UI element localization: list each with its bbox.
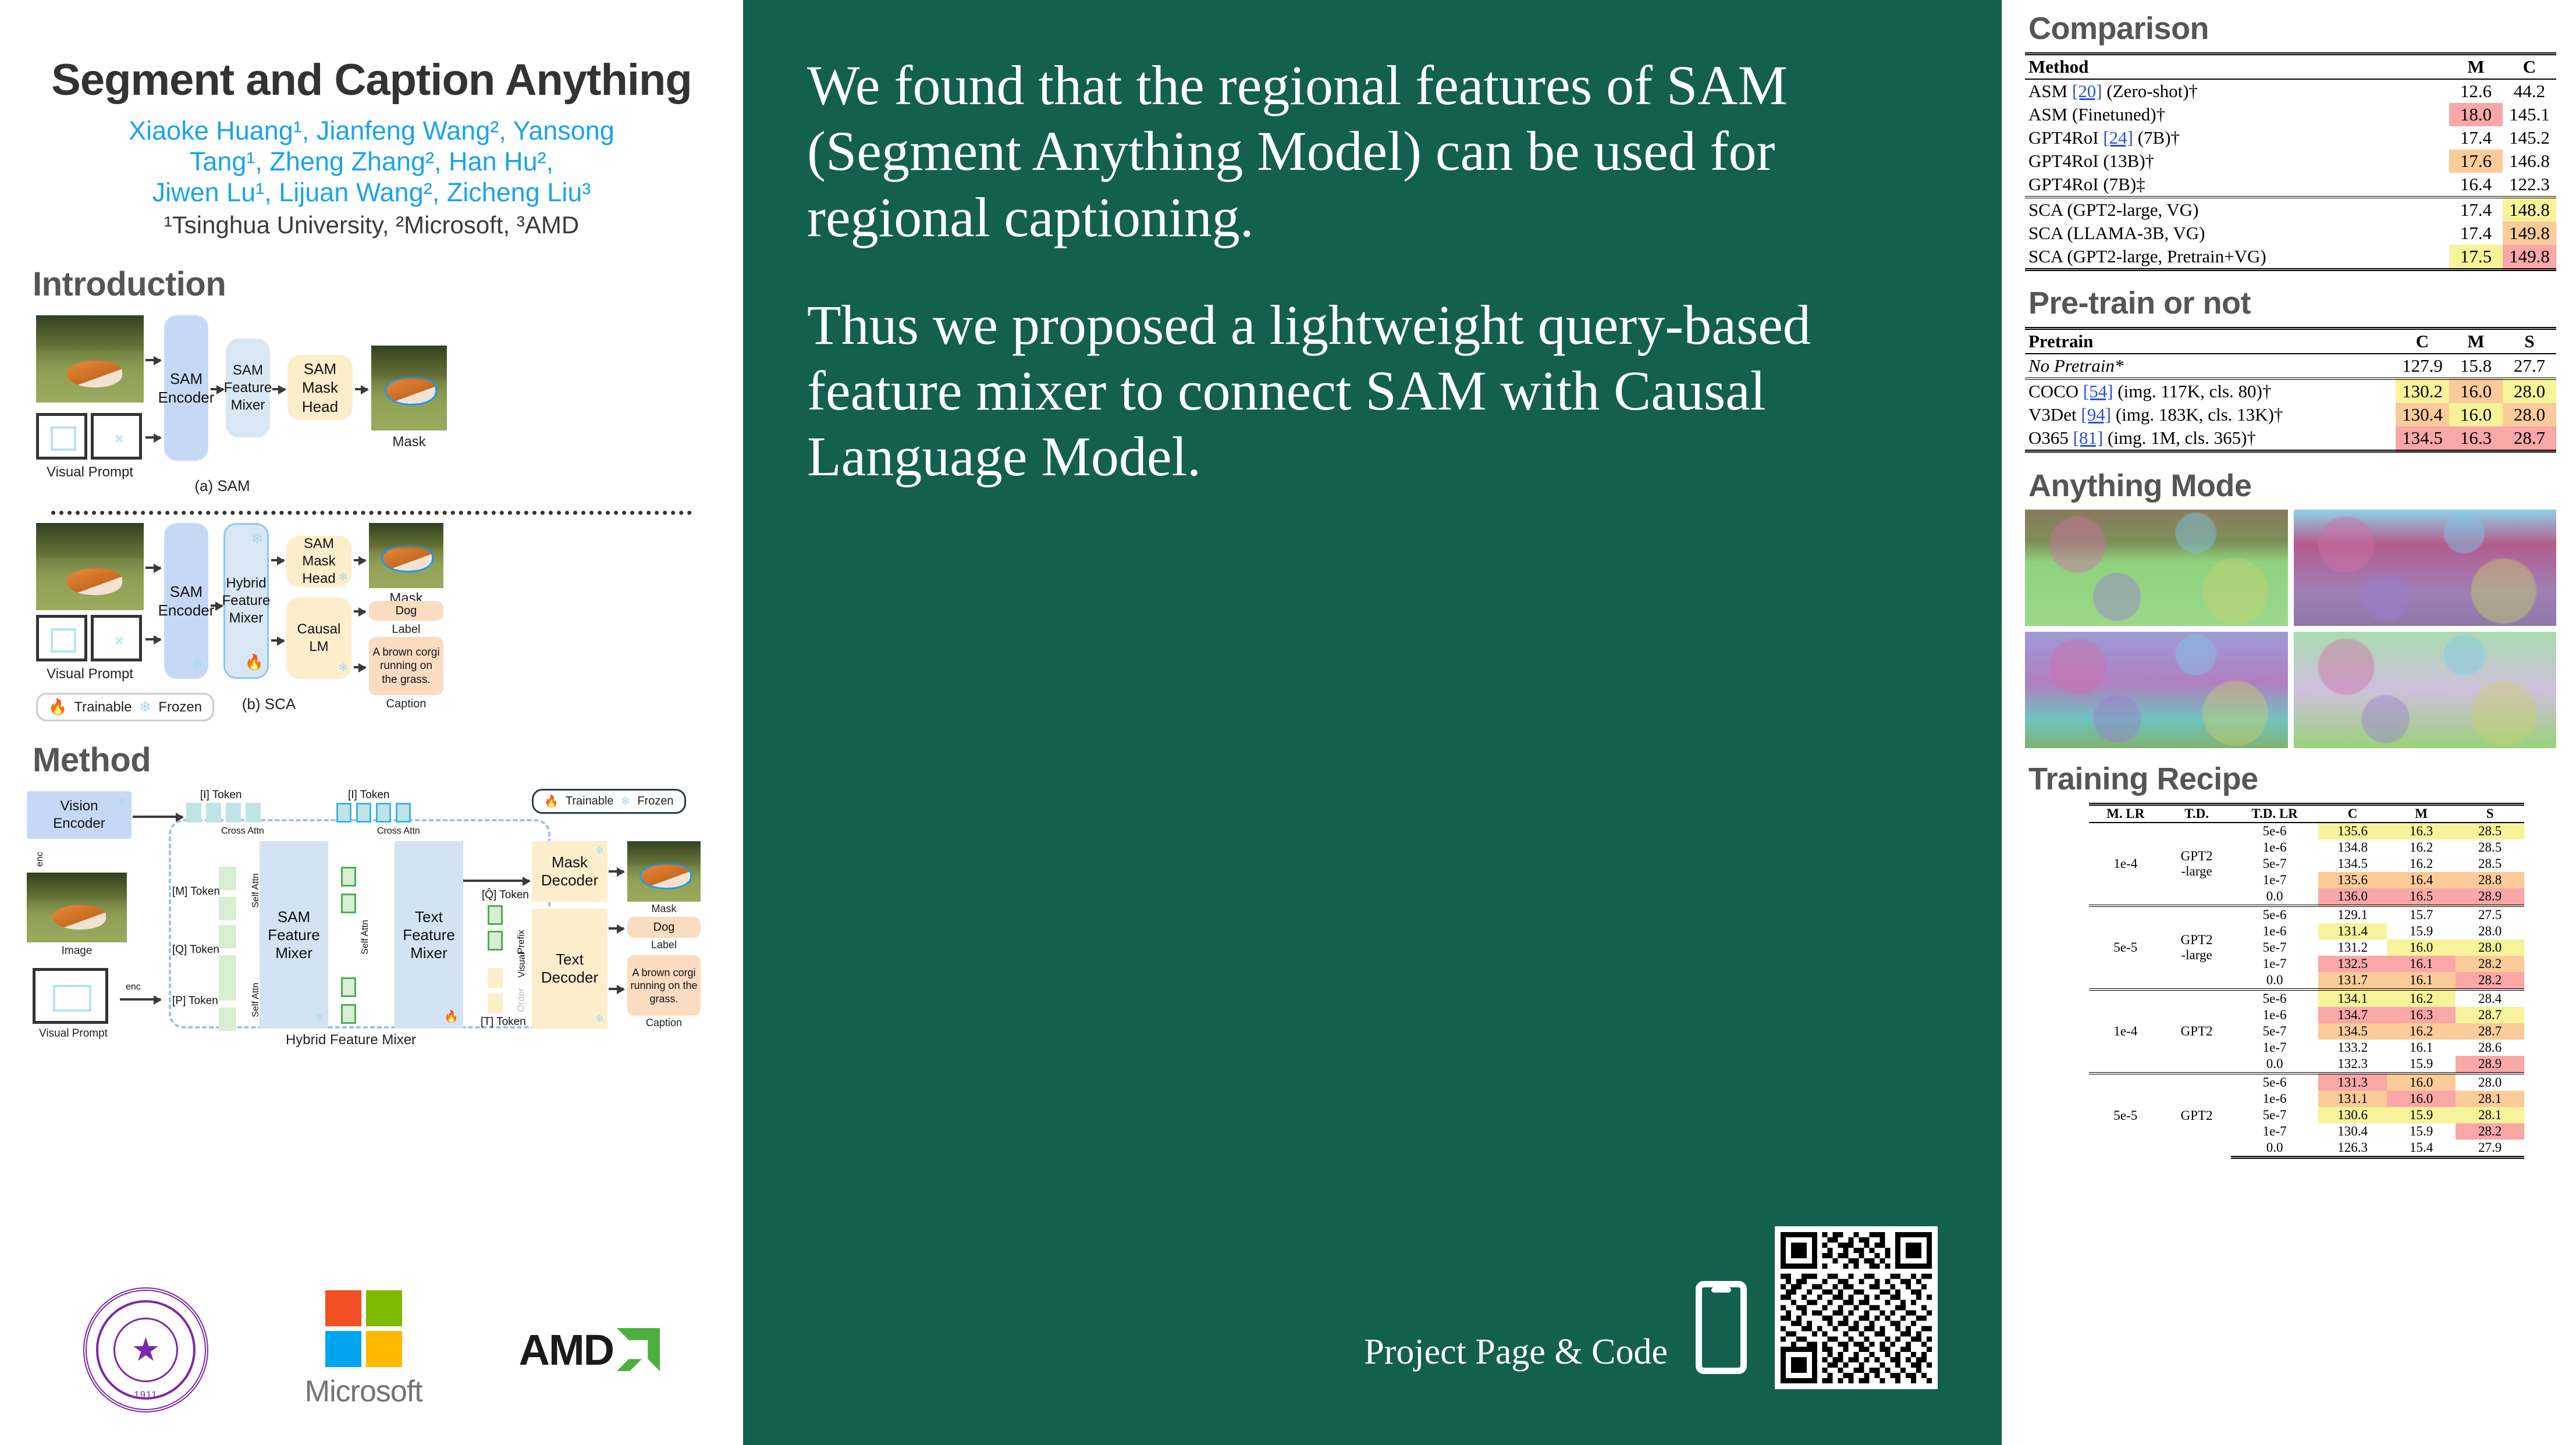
i-token-label-1: [I] Token <box>200 789 241 802</box>
training-recipe-table: M. LR T.D. T.D. LR C M S 1e-4GPT2-large5… <box>2089 803 2525 1159</box>
cell-m: 16.0 <box>2449 403 2503 426</box>
cell-m: 16.3 <box>2387 1007 2456 1023</box>
comparison-table: Method M C ASM [20] (Zero-shot)†12.644.2… <box>2025 52 2556 271</box>
cell-c: 131.1 <box>2318 1091 2387 1107</box>
m-token-label: [M] Token <box>172 885 220 898</box>
vision-encoder-block: VisionEncoder ❄ <box>27 791 132 839</box>
vision-encoder-label: VisionEncoder <box>53 798 105 832</box>
cell-tdlr: 5e-7 <box>2231 939 2318 956</box>
table-row: GPT4RoI [24] (7B)†17.4145.2 <box>2025 126 2556 150</box>
cell-c: 130.4 <box>2396 403 2449 426</box>
cell-s: 28.1 <box>2456 1107 2524 1123</box>
cell-s: 28.7 <box>2456 1023 2524 1040</box>
p-token-label: [P] Token <box>172 995 218 1008</box>
cell-s: 28.0 <box>2456 1073 2524 1091</box>
cell-s: 28.2 <box>2456 972 2524 990</box>
cell-m: 12.6 <box>2449 79 2503 103</box>
cell-s: 28.6 <box>2456 1040 2524 1056</box>
table-row: COCO [54] (img. 117K, cls. 80)†130.216.0… <box>2025 379 2556 403</box>
input-image-photo <box>36 523 144 610</box>
frozen-icon: ❄ <box>117 795 127 809</box>
sam-encoder-label: SAMEncoder <box>158 369 215 407</box>
prefix-label: Prefix <box>516 930 527 954</box>
frozen-icon: ❄ <box>621 794 631 809</box>
table-row: GPT4RoI (13B)†17.6146.8 <box>2025 150 2556 173</box>
cell-mlr: 5e-5 <box>2089 906 2163 990</box>
col-m: M <box>2449 54 2503 80</box>
cell-mlr: 5e-5 <box>2089 1073 2163 1158</box>
cell-tdlr: 5e-6 <box>2231 823 2318 839</box>
cell-m: 16.0 <box>2387 1073 2456 1091</box>
cell-c: 135.6 <box>2318 872 2387 888</box>
cell-s: 28.0 <box>2503 403 2556 426</box>
mask-output-label: Mask <box>371 434 447 450</box>
cell-m: 15.4 <box>2387 1140 2456 1158</box>
table-row: V3Det [94] (img. 183K, cls. 13K)†130.416… <box>2025 403 2556 426</box>
table-row: 5e-5GPT25e-6131.316.028.0 <box>2089 1073 2525 1091</box>
visual-prompt-box <box>36 615 87 661</box>
table-row: 1e-4GPT25e-6134.116.228.4 <box>2089 990 2525 1007</box>
col-method: Method <box>2025 54 2449 80</box>
cell-mlr: 1e-4 <box>2089 990 2163 1073</box>
table-row: 1e-4GPT2-large5e-6135.616.328.5 <box>2089 823 2525 839</box>
mask-output-photo <box>627 841 701 902</box>
cell-tdlr: 5e-7 <box>2231 856 2318 872</box>
legend-trainable-label: Trainable <box>566 795 614 808</box>
highlight-paragraph-1: We found that the regional features of S… <box>807 52 1938 250</box>
order-label: Order <box>516 988 527 1012</box>
legend-trainable-frozen: 🔥 Trainable ❄ Frozen <box>36 693 214 721</box>
visual-prompt-point: × <box>91 413 142 460</box>
sam-mask-head-block: SAM MaskHead ❄ <box>286 536 351 587</box>
pretrain-table: Pretrain C M S No Pretrain*127.915.827.7… <box>2025 327 2556 453</box>
project-cta: Project Page & Code <box>743 1226 2002 1389</box>
text-feature-mixer-block: TextFeatureMixer 🔥 <box>395 841 463 1028</box>
cell-c: 149.8 <box>2503 222 2556 245</box>
col-c: C <box>2503 54 2556 80</box>
cell-tdlr: 1e-6 <box>2231 1091 2318 1107</box>
cell-method: ASM [20] (Zero-shot)† <box>2025 79 2449 103</box>
col-s: S <box>2456 805 2524 823</box>
sam-diagram-caption: (a) SAM <box>164 477 280 495</box>
amd-arrow-icon <box>617 1328 660 1371</box>
cell-s: 27.5 <box>2456 906 2524 923</box>
amd-wordmark: AMD <box>519 1325 614 1375</box>
sam-mask-head-block: SAM MaskHead <box>287 355 353 420</box>
section-heading-pretrain: Pre-train or not <box>2028 285 2556 321</box>
page-title: Segment and Caption Anything <box>28 58 715 102</box>
cell-tdlr: 5e-6 <box>2231 990 2318 1007</box>
microsoft-squares-icon <box>325 1290 402 1367</box>
cell-m: 16.0 <box>2387 1091 2456 1107</box>
cell-c: 135.6 <box>2318 823 2387 839</box>
i-token-row-1 <box>186 803 265 825</box>
cell-method: SCA (LLAMA-3B, VG) <box>2025 222 2449 245</box>
trainable-icon: 🔥 <box>444 1009 459 1024</box>
cell-s: 28.9 <box>2456 888 2524 906</box>
cell-s: 28.0 <box>2456 923 2524 939</box>
col-m: M <box>2449 329 2503 354</box>
visual-prompt-box <box>36 413 87 460</box>
microsoft-wordmark: Microsoft <box>305 1374 422 1409</box>
cell-td: GPT2 <box>2162 990 2231 1073</box>
i-token-label-2: [I] Token <box>348 789 389 802</box>
table-row: GPT4RoI (7B)‡16.4122.3 <box>2025 173 2556 197</box>
cell-tdlr: 5e-7 <box>2231 1023 2318 1040</box>
cell-c: 130.4 <box>2318 1123 2387 1140</box>
cell-m: 18.0 <box>2449 103 2503 126</box>
cell-c: 122.3 <box>2503 173 2556 197</box>
cell-pretrain: No Pretrain* <box>2025 354 2396 379</box>
cell-m: 15.7 <box>2387 906 2456 923</box>
caption-output-box: A brown corgi running on the grass. <box>627 955 701 1016</box>
cell-c: 134.5 <box>2318 1023 2387 1040</box>
cell-c: 126.3 <box>2318 1140 2387 1158</box>
cell-method: GPT4RoI (7B)‡ <box>2025 173 2449 197</box>
p-token-row <box>219 977 241 1031</box>
anything-mode-gallery <box>2025 510 2556 748</box>
author-line: Xiaoke Huang¹, Jianfeng Wang², Yansong <box>28 115 715 146</box>
cell-s: 28.8 <box>2456 872 2524 888</box>
t-token-label: [T] Token <box>481 1016 526 1028</box>
p-token-row-2 <box>341 977 361 1024</box>
cell-pretrain: COCO [54] (img. 117K, cls. 80)† <box>2025 379 2396 403</box>
sam-feature-mixer-label: SAMFeatureMixer <box>268 908 320 962</box>
section-heading-comparison: Comparison <box>2028 10 2556 47</box>
cell-c: 146.8 <box>2503 150 2556 173</box>
cell-method: ASM (Finetuned)† <box>2025 103 2449 126</box>
caption-output-caption: Caption <box>369 697 443 711</box>
cell-s: 28.0 <box>2503 379 2556 403</box>
cell-s: 28.5 <box>2456 823 2524 839</box>
qr-code-svg <box>1781 1232 1932 1383</box>
trainable-icon: 🔥 <box>48 698 67 716</box>
frozen-icon: ❄ <box>315 1012 324 1024</box>
cell-m: 16.2 <box>2387 1023 2456 1040</box>
center-panel: We found that the regional features of S… <box>743 0 2002 1445</box>
cell-m: 16.1 <box>2387 972 2456 990</box>
section-heading-introduction: Introduction <box>33 265 715 304</box>
cell-m: 16.4 <box>2449 173 2503 197</box>
cell-c: 130.2 <box>2396 379 2449 403</box>
t-token-row <box>488 968 507 1013</box>
section-heading-anything-mode: Anything Mode <box>2028 468 2556 504</box>
sam-encoder-block: SAMEncoder <box>164 315 208 461</box>
cell-c: 131.3 <box>2318 1073 2387 1091</box>
cell-tdlr: 1e-6 <box>2231 839 2318 856</box>
q-hat-token-row <box>488 905 507 951</box>
tsinghua-logo: ★ 1911 <box>83 1287 208 1412</box>
col-s: S <box>2503 329 2556 354</box>
cell-m: 16.1 <box>2387 956 2456 972</box>
cell-c: 148.8 <box>2503 197 2556 222</box>
cross-attn-label-2: Cross Attn <box>377 826 420 837</box>
text-feature-mixer-label: TextFeatureMixer <box>403 908 455 962</box>
sam-feature-mixer-label: SAMFeatureMixer <box>224 362 272 414</box>
cell-c: 136.0 <box>2318 888 2387 906</box>
cell-s: 27.7 <box>2503 354 2556 379</box>
cell-c: 132.5 <box>2318 956 2387 972</box>
col-m: M <box>2387 805 2456 823</box>
cell-s: 27.9 <box>2456 1140 2524 1158</box>
i-token-row-2 <box>336 803 415 825</box>
q-token-label: [Q] Token <box>172 944 219 956</box>
visual-prompt-label: Visual Prompt <box>36 666 144 682</box>
cell-c: 134.7 <box>2318 1007 2387 1023</box>
cell-c: 145.2 <box>2503 126 2556 150</box>
cell-mlr: 1e-4 <box>2089 823 2163 906</box>
image-label: Image <box>27 945 127 958</box>
trainable-icon: 🔥 <box>544 794 559 809</box>
anything-mode-image-city-skyline-bridge <box>2025 632 2288 748</box>
m-token-row-2 <box>341 867 361 913</box>
cell-method: GPT4RoI [24] (7B)† <box>2025 126 2449 150</box>
col-pretrain: Pretrain <box>2025 329 2396 354</box>
cell-s: 28.0 <box>2456 939 2524 956</box>
cell-m: 16.4 <box>2387 872 2456 888</box>
cell-method: GPT4RoI (13B)† <box>2025 150 2449 173</box>
table-row: No Pretrain*127.915.827.7 <box>2025 354 2556 379</box>
col-tdlr: T.D. LR <box>2231 805 2318 823</box>
text-decoder-block: TextDecoder ❄ <box>532 909 607 1028</box>
hybrid-feature-mixer-block: HybridFeatureMixer ❄ 🔥 <box>223 523 269 679</box>
table-row: SCA (LLAMA-3B, VG)17.4149.8 <box>2025 222 2556 245</box>
table-row: O365 [81] (img. 1M, cls. 365)†134.516.32… <box>2025 426 2556 451</box>
section-heading-method: Method <box>33 741 715 780</box>
legend-trainable-frozen: 🔥 Trainable ❄ Frozen <box>532 789 686 814</box>
image-photo <box>27 873 127 942</box>
cell-tdlr: 1e-7 <box>2231 872 2318 888</box>
cell-m: 16.1 <box>2387 1040 2456 1056</box>
cell-c: 134.5 <box>2396 426 2449 451</box>
author-line: Tang¹, Zheng Zhang², Han Hu², <box>28 146 715 177</box>
sam-feature-mixer-block: SAMFeatureMixer ❄ <box>260 841 328 1028</box>
method-diagram: VisionEncoder ❄ enc Image Visual Prompt … <box>22 785 709 1059</box>
sca-diagram-caption: (b) SCA <box>211 695 327 713</box>
cell-m: 15.9 <box>2387 1056 2456 1073</box>
cell-tdlr: 1e-6 <box>2231 1007 2318 1023</box>
mask-decoder-block: MaskDecoder ❄ <box>532 841 607 902</box>
project-cta-label: Project Page & Code <box>1364 1332 1668 1373</box>
cell-s: 28.5 <box>2456 839 2524 856</box>
cell-m: 17.5 <box>2449 245 2503 270</box>
cell-td: GPT2 <box>2162 1073 2231 1158</box>
sam-feature-mixer-block: SAMFeatureMixer <box>226 339 270 437</box>
cell-c: 44.2 <box>2503 79 2556 103</box>
caption-output-box: A brown corgi running on the grass. <box>369 637 443 695</box>
cell-tdlr: 0.0 <box>2231 1056 2318 1073</box>
cell-tdlr: 1e-7 <box>2231 1123 2318 1140</box>
cell-td: GPT2-large <box>2162 906 2231 990</box>
causal-lm-label: CausalLM <box>297 621 341 656</box>
cell-tdlr: 1e-7 <box>2231 956 2318 972</box>
cell-m: 15.9 <box>2387 923 2456 939</box>
sponsor-logos: ★ 1911 Microsoft AMD <box>0 1262 743 1437</box>
cell-c: 149.8 <box>2503 245 2556 270</box>
caption-output-value: A brown corgi running on the grass. <box>371 646 441 687</box>
cell-tdlr: 5e-6 <box>2231 906 2318 923</box>
phone-icon <box>1696 1281 1747 1374</box>
visual-label: Visual <box>517 953 528 978</box>
highlight-text: We found that the regional features of S… <box>743 0 2002 490</box>
cell-m: 16.3 <box>2449 426 2503 451</box>
frozen-icon: ❄ <box>338 570 348 585</box>
author-list: Xiaoke Huang¹, Jianfeng Wang², Yansong T… <box>28 115 715 208</box>
caption-output-value: A brown corgi running on the grass. <box>630 966 698 1006</box>
affiliations: ¹Tsinghua University, ²Microsoft, ³AMD <box>28 211 715 239</box>
poster-root: Segment and Caption Anything Xiaoke Huan… <box>0 0 2576 1445</box>
microsoft-logo: Microsoft <box>305 1290 422 1409</box>
text-decoder-label: TextDecoder <box>541 951 598 987</box>
cell-m: 16.2 <box>2387 856 2456 872</box>
cell-c: 134.8 <box>2318 839 2387 856</box>
cell-c: 134.5 <box>2318 856 2387 872</box>
cell-c: 131.4 <box>2318 923 2387 939</box>
qr-code[interactable] <box>1775 1226 1938 1389</box>
anything-mode-image-corgi-on-grass <box>2025 510 2288 626</box>
cell-m: 17.4 <box>2449 222 2503 245</box>
label-output-box: Dog <box>369 601 443 621</box>
sam-mask-head-label: SAM MaskHead <box>287 360 353 417</box>
cell-s: 28.2 <box>2456 1123 2524 1140</box>
col-td: T.D. <box>2162 805 2231 823</box>
cell-m: 16.3 <box>2387 823 2456 839</box>
cell-m: 16.0 <box>2449 379 2503 403</box>
cell-td: GPT2-large <box>2162 823 2231 906</box>
label-output-caption: Label <box>369 623 443 636</box>
table-row: SCA (GPT2-large, VG)17.4148.8 <box>2025 197 2556 222</box>
cell-s: 28.1 <box>2456 1091 2524 1107</box>
table-row: ASM [20] (Zero-shot)†12.644.2 <box>2025 79 2556 103</box>
sam-diagram: × Visual Prompt SAMEncoder SAMFeatureMix… <box>36 309 715 501</box>
amd-logo: AMD <box>519 1325 660 1375</box>
cell-c: 132.3 <box>2318 1056 2387 1073</box>
cell-m: 16.2 <box>2387 990 2456 1007</box>
cell-s: 28.9 <box>2456 1056 2524 1073</box>
cell-c: 133.2 <box>2318 1040 2387 1056</box>
cell-s: 28.5 <box>2456 856 2524 872</box>
table-row: ASM (Finetuned)†18.0145.1 <box>2025 103 2556 126</box>
author-line: Jiwen Lu¹, Lijuan Wang², Zicheng Liu³ <box>28 177 715 208</box>
mask-output-photo <box>369 523 443 588</box>
caption-output-caption: Caption <box>627 1017 701 1029</box>
anything-mode-image-living-room <box>2294 632 2557 748</box>
table-row: 5e-5GPT2-large5e-6129.115.727.5 <box>2089 906 2525 923</box>
cell-c: 145.1 <box>2503 103 2556 126</box>
label-output-caption: Label <box>627 939 701 951</box>
highlight-paragraph-2: Thus we proposed a lightweight query-bas… <box>807 292 1938 490</box>
cell-m: 15.9 <box>2387 1107 2456 1123</box>
frozen-icon: ❄ <box>139 698 152 716</box>
cell-tdlr: 0.0 <box>2231 972 2318 990</box>
cell-c: 134.1 <box>2318 990 2387 1007</box>
mask-decoder-label: MaskDecoder <box>541 853 598 889</box>
cell-s: 28.4 <box>2456 990 2524 1007</box>
label-output-box: Dog <box>627 917 701 938</box>
table-row: SCA (GPT2-large, Pretrain+VG)17.5149.8 <box>2025 245 2556 270</box>
cell-m: 15.8 <box>2449 354 2503 379</box>
cell-c: 131.7 <box>2318 972 2387 990</box>
cell-tdlr: 1e-7 <box>2231 1040 2318 1056</box>
legend-trainable-label: Trainable <box>74 699 132 716</box>
hybrid-feature-mixer-label: Hybrid Feature Mixer <box>255 1032 447 1048</box>
hybrid-feature-mixer-label: HybridFeatureMixer <box>222 575 271 627</box>
cell-c: 131.2 <box>2318 939 2387 956</box>
frozen-icon: ❄ <box>191 654 204 674</box>
anything-mode-image-city-street <box>2294 510 2557 626</box>
frozen-icon: ❄ <box>251 529 264 549</box>
cell-pretrain: V3Det [94] (img. 183K, cls. 13K)† <box>2025 403 2396 426</box>
col-mlr: M. LR <box>2089 805 2163 823</box>
cell-s: 28.7 <box>2503 426 2556 451</box>
q-hat-token-label: [Q̂] Token <box>482 889 529 902</box>
col-c: C <box>2396 329 2449 354</box>
cell-m: 17.6 <box>2449 150 2503 173</box>
cell-tdlr: 1e-6 <box>2231 923 2318 939</box>
trainable-icon: 🔥 <box>245 653 264 672</box>
q-token-row <box>219 925 241 978</box>
m-token-row <box>219 867 241 920</box>
cell-s: 28.2 <box>2456 956 2524 972</box>
cell-tdlr: 5e-6 <box>2231 1073 2318 1091</box>
tsinghua-year: 1911 <box>87 1389 205 1401</box>
self-attn-label-3: Self Attn <box>360 920 371 955</box>
mask-output-label: Mask <box>627 903 701 915</box>
cell-m: 15.9 <box>2387 1123 2456 1140</box>
visual-prompt-label: Visual Prompt <box>27 1027 120 1040</box>
cell-tdlr: 0.0 <box>2231 1140 2318 1158</box>
cell-method: SCA (GPT2-large, VG) <box>2025 197 2449 222</box>
cell-c: 127.9 <box>2396 354 2449 379</box>
right-column: Comparison Method M C ASM [20] (Zero-sho… <box>2002 0 2576 1445</box>
cell-tdlr: 0.0 <box>2231 888 2318 906</box>
frozen-icon: ❄ <box>338 661 348 675</box>
cell-m: 16.5 <box>2387 888 2456 906</box>
frozen-icon: ❄ <box>595 845 604 857</box>
label-output-value: Dog <box>653 921 675 934</box>
visual-prompt-point: × <box>91 615 142 661</box>
cell-c: 130.6 <box>2318 1107 2387 1123</box>
enc-arrow-label: enc <box>126 982 141 992</box>
cell-m: 17.4 <box>2449 126 2503 150</box>
cell-tdlr: 5e-7 <box>2231 1107 2318 1123</box>
cell-s: 28.7 <box>2456 1007 2524 1023</box>
legend-frozen-label: Frozen <box>158 699 202 716</box>
cell-m: 16.2 <box>2387 839 2456 856</box>
frozen-icon: ❄ <box>595 1013 604 1025</box>
cell-method: SCA (GPT2-large, Pretrain+VG) <box>2025 245 2449 270</box>
col-c: C <box>2318 805 2387 823</box>
cell-pretrain: O365 [81] (img. 1M, cls. 365)† <box>2025 426 2396 451</box>
visual-prompt-label: Visual Prompt <box>36 464 144 481</box>
input-image-photo <box>36 315 144 403</box>
label-output-value: Dog <box>396 604 417 618</box>
sca-diagram: × Visual Prompt SAMEncoder ❄ HybridFeatu… <box>36 523 715 721</box>
legend-frozen-label: Frozen <box>637 795 673 808</box>
cross-attn-label-1: Cross Attn <box>221 826 264 837</box>
cell-m: 16.0 <box>2387 939 2456 956</box>
section-divider <box>51 511 692 515</box>
enc-arrow-label: enc <box>35 852 45 867</box>
cell-c: 129.1 <box>2318 906 2387 923</box>
left-column: Segment and Caption Anything Xiaoke Huan… <box>0 0 743 1445</box>
causal-lm-block: CausalLM ❄ <box>286 597 351 679</box>
mask-output-photo <box>371 346 447 430</box>
sam-encoder-block: SAMEncoder ❄ <box>164 523 208 679</box>
visual-prompt-stack <box>33 968 108 1024</box>
cell-m: 17.4 <box>2449 197 2503 222</box>
sam-encoder-label: SAMEncoder <box>158 582 215 620</box>
